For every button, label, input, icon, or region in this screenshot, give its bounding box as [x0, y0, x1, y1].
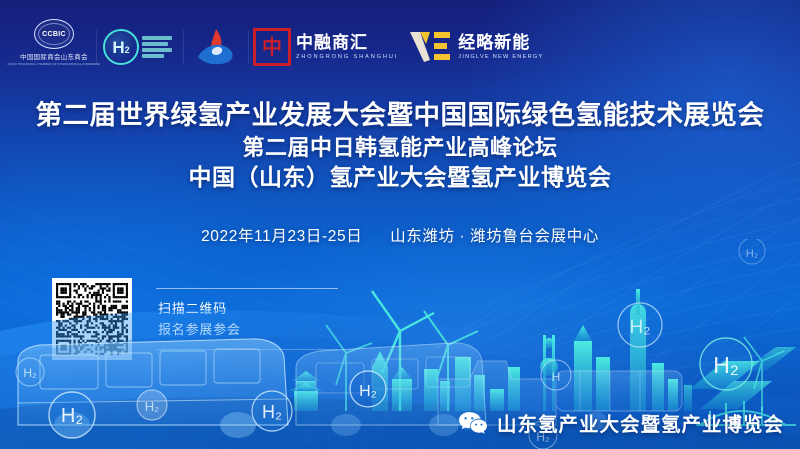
- sponsor-logo-hydrogen: H2: [103, 19, 181, 75]
- svg-text:H₂: H₂: [713, 352, 739, 378]
- qr-rule-bottom: [156, 349, 338, 350]
- poster-canvas: CCBIC 中国国际商会山东商会 CCOIC SHANDONG CHAMBER …: [0, 0, 800, 449]
- wind-turbine: [372, 291, 434, 411]
- event-dates: 2022年11月23日-25日: [201, 228, 362, 245]
- building: [440, 381, 450, 411]
- spire-tower: [630, 289, 646, 411]
- h2-bar-marks: [142, 36, 172, 58]
- qr-caption-line-2: 报名参展参会: [158, 319, 338, 340]
- headline-line-3: 中国（山东）氢产业大会暨氢产业博览会: [0, 163, 800, 193]
- building: [455, 357, 471, 411]
- sponsor-logo-zhongrong: 中 中融商汇 ZHONGRONG SHANGHUI: [253, 19, 398, 75]
- h2-badge: H₂: [618, 303, 662, 347]
- curve-line-pattern-right: [300, 150, 800, 449]
- wechat-account-name: 山东氢产业大会暨氢产业博览会: [497, 408, 784, 437]
- swirl-logo-icon: [190, 26, 242, 68]
- building: [668, 379, 678, 411]
- sponsor-logo-ccbic: CCBIC 中国国际商会山东商会 CCOIC SHANDONG CHAMBER …: [14, 19, 94, 75]
- building: [424, 369, 438, 411]
- jinglve-name-cn: 经略新能: [458, 34, 543, 52]
- building: [508, 367, 520, 411]
- wechat-account-footer[interactable]: 山东氢产业大会暨氢产业博览会: [458, 408, 784, 437]
- city-skyline: [288, 289, 796, 425]
- svg-text:H₂: H₂: [145, 399, 159, 414]
- logo-divider: [183, 30, 184, 64]
- qr-code-card[interactable]: [52, 278, 132, 360]
- headline-block: 第二届世界绿氢产业发展大会暨中国国际绿色氢能技术展览会 第二届中日韩氢能产业高峰…: [0, 101, 800, 193]
- svg-text:H₂: H₂: [359, 383, 377, 400]
- pagoda-building: [288, 371, 324, 411]
- logo-divider: [96, 30, 97, 64]
- svg-text:H₂: H₂: [629, 317, 650, 338]
- svg-text:H₂: H₂: [262, 402, 282, 422]
- bus-wheel: [54, 412, 90, 438]
- bus-wheel: [220, 412, 256, 438]
- pearl-tower: [540, 335, 558, 411]
- jinglve-name-en: JINGLVE NEW ENERGY: [458, 54, 543, 60]
- h2-badge: H₂: [137, 390, 167, 420]
- zhongrong-name-cn: 中融商汇: [296, 34, 398, 52]
- zhongrong-name-en: ZHONGRONG SHANGHUI: [296, 54, 398, 60]
- svg-text:H₂: H₂: [23, 366, 37, 380]
- ccbic-mark-text: CCBIC: [42, 31, 66, 38]
- qr-registration-block: 扫描二维码 报名参展参会: [52, 278, 338, 360]
- twin-tower-building: [574, 325, 610, 411]
- svg-text:H₂: H₂: [61, 405, 83, 427]
- h2-badge: H₂: [16, 358, 44, 386]
- h2-badge: H₂: [350, 371, 386, 407]
- h2-badge: H₂: [700, 338, 752, 390]
- wind-turbine: [424, 311, 478, 411]
- event-venue: 山东潍坊 · 潍坊鲁台会展中心: [390, 228, 599, 245]
- wechat-icon: [458, 411, 488, 435]
- headline-line-1: 第二届世界绿氢产业发展大会暨中国国际绿色氢能技术展览会: [0, 101, 800, 131]
- qr-caption-line-1: 扫描二维码: [158, 298, 338, 319]
- ccbic-name-en: CCOIC SHANDONG CHAMBER OF INTERNATIONAL …: [8, 62, 101, 66]
- qr-code-icon[interactable]: [56, 283, 128, 355]
- h2-badge: H₂: [252, 391, 292, 431]
- qr-caption: 扫描二维码 报名参展参会: [156, 278, 338, 360]
- building: [652, 363, 664, 411]
- h2-badge: H₂: [49, 392, 95, 438]
- v-wedge-icon: [408, 30, 452, 64]
- sponsor-logo-jinglve: 经略新能 JINGLVE NEW ENERGY: [408, 19, 543, 75]
- building: [474, 375, 485, 411]
- wind-turbine: [744, 337, 784, 411]
- h2-badge: H: [541, 360, 571, 390]
- sponsor-logo-swirl: [186, 19, 246, 75]
- sponsor-logo-bar: CCBIC 中国国际商会山东商会 CCOIC SHANDONG CHAMBER …: [14, 19, 543, 75]
- svg-text:H: H: [552, 370, 561, 384]
- svg-text:H₂: H₂: [746, 248, 758, 260]
- seal-square-icon: 中: [253, 28, 291, 66]
- event-meta: 2022年11月23日-25日 山东潍坊 · 潍坊鲁台会展中心: [0, 224, 800, 246]
- ccbic-name-cn: 中国国际商会山东商会: [20, 52, 88, 61]
- headline-line-2: 第二届中日韩氢能产业高峰论坛: [0, 134, 800, 163]
- logo-divider: [248, 30, 249, 64]
- cathedral-building: [372, 351, 412, 411]
- solar-panel: [690, 347, 796, 409]
- globe-emblem-icon: CCBIC: [34, 19, 74, 49]
- h2-circle-icon: H2: [103, 29, 139, 65]
